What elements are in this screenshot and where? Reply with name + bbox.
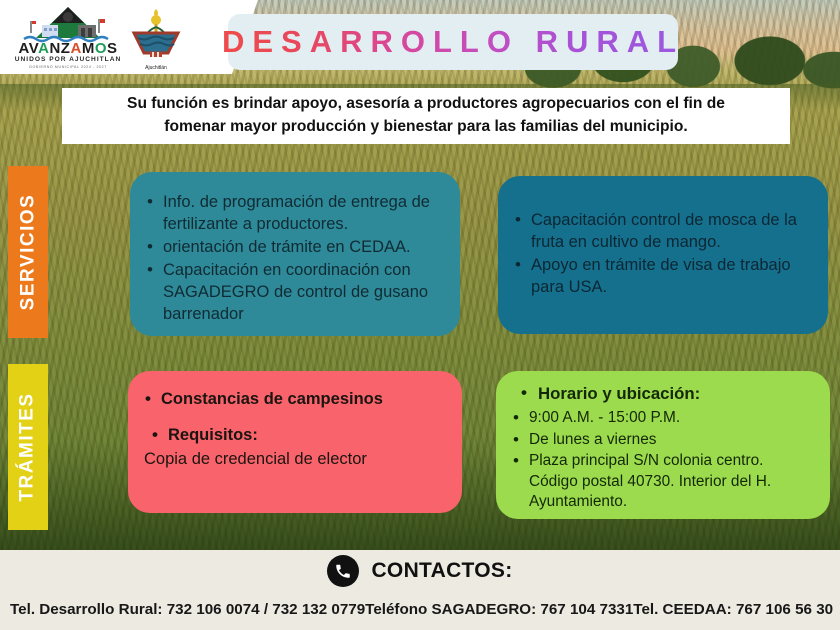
servicios-right-list: Capacitación control de mosca de la frut… bbox=[514, 210, 810, 299]
title-banner: DESARROLLO RURAL bbox=[228, 14, 678, 70]
list-item: Apoyo en trámite de visa de trabajo para… bbox=[514, 255, 810, 299]
section-tab-tramites: TRÁMITES bbox=[8, 364, 48, 530]
list-item: Capacitación en coordinación con SAGADEG… bbox=[146, 260, 442, 326]
phone-icon-glyph bbox=[334, 562, 352, 580]
contact-desarrollo-rural: Tel. Desarrollo Rural: 732 106 0074 / 73… bbox=[10, 601, 365, 618]
servicios-card-left: Info. de programación de entrega de fert… bbox=[130, 172, 460, 336]
tramites-left-list: Constancias de campesinos Requisitos: Co… bbox=[144, 389, 444, 471]
tramites-card-right: Horario y ubicación: 9:00 A.M. - 15:00 P… bbox=[496, 371, 830, 519]
mission-line-1: Su función es brindar apoyo, asesoría a … bbox=[127, 93, 725, 116]
list-item: De lunes a viernes bbox=[512, 430, 812, 450]
poster-root: AVANZAMOS UNIDOS POR AJUCHITLAN GOBIERNO… bbox=[0, 0, 840, 630]
list-item: Constancias de campesinos bbox=[144, 389, 444, 411]
list-item: Requisitos: bbox=[144, 425, 444, 447]
requisitos-detail: Copia de credencial de elector bbox=[144, 449, 444, 471]
horario-heading: Horario y ubicación: bbox=[512, 383, 812, 405]
avanzamos-wordmark: AVANZAMOS bbox=[14, 41, 122, 56]
servicios-left-list: Info. de programación de entrega de fert… bbox=[146, 192, 442, 326]
logo-band: AVANZAMOS UNIDOS POR AJUCHITLAN GOBIERNO… bbox=[0, 0, 232, 74]
contact-ceedaa: Tel. CEEDAA: 767 106 56 30 bbox=[633, 601, 833, 618]
page-title: DESARROLLO RURAL bbox=[222, 24, 684, 60]
tramites-card-left: Constancias de campesinos Requisitos: Co… bbox=[128, 371, 462, 513]
mission-line-2: fomenar mayor producción y bienestar par… bbox=[164, 116, 687, 139]
avanzamos-logo: AVANZAMOS UNIDOS POR AJUCHITLAN GOBIERNO… bbox=[14, 5, 122, 69]
contact-numbers-row: Tel. Desarrollo Rural: 732 106 0074 / 73… bbox=[0, 592, 840, 626]
avanzamos-tagline: UNIDOS POR AJUCHITLAN bbox=[14, 56, 122, 63]
ajuchitlan-coat-of-arms: Ajuchitlán bbox=[124, 5, 188, 71]
coat-of-arms-label: Ajuchitlán bbox=[124, 65, 188, 71]
list-item: 9:00 A.M. - 15:00 P.M. bbox=[512, 408, 812, 428]
coat-of-arms-icon bbox=[124, 5, 188, 63]
contact-sagadegro: Teléfono SAGADEGRO: 767 104 7331 bbox=[365, 601, 633, 618]
list-item: orientación de trámite en CEDAA. bbox=[146, 237, 442, 259]
list-item: Capacitación control de mosca de la frut… bbox=[514, 210, 810, 254]
contactos-label: CONTACTOS: bbox=[371, 559, 512, 583]
avanzamos-emblem-icon bbox=[14, 5, 122, 43]
avanzamos-period: GOBIERNO MUNICIPAL 2024 - 2027 bbox=[14, 65, 122, 69]
phone-icon bbox=[327, 555, 359, 587]
contact-header: CONTACTOS: bbox=[0, 550, 840, 592]
list-item: Plaza principal S/N colonia centro. Códi… bbox=[512, 451, 812, 512]
mission-statement: Su función es brindar apoyo, asesoría a … bbox=[62, 88, 790, 144]
tramites-right-list: Horario y ubicación: 9:00 A.M. - 15:00 P… bbox=[512, 383, 812, 513]
section-tab-servicios: SERVICIOS bbox=[8, 166, 48, 338]
section-tab-servicios-label: SERVICIOS bbox=[17, 194, 39, 311]
section-tab-tramites-label: TRÁMITES bbox=[17, 392, 39, 501]
list-item: Info. de programación de entrega de fert… bbox=[146, 192, 442, 236]
contact-footer: CONTACTOS: Tel. Desarrollo Rural: 732 10… bbox=[0, 550, 840, 630]
servicios-card-right: Capacitación control de mosca de la frut… bbox=[498, 176, 828, 334]
